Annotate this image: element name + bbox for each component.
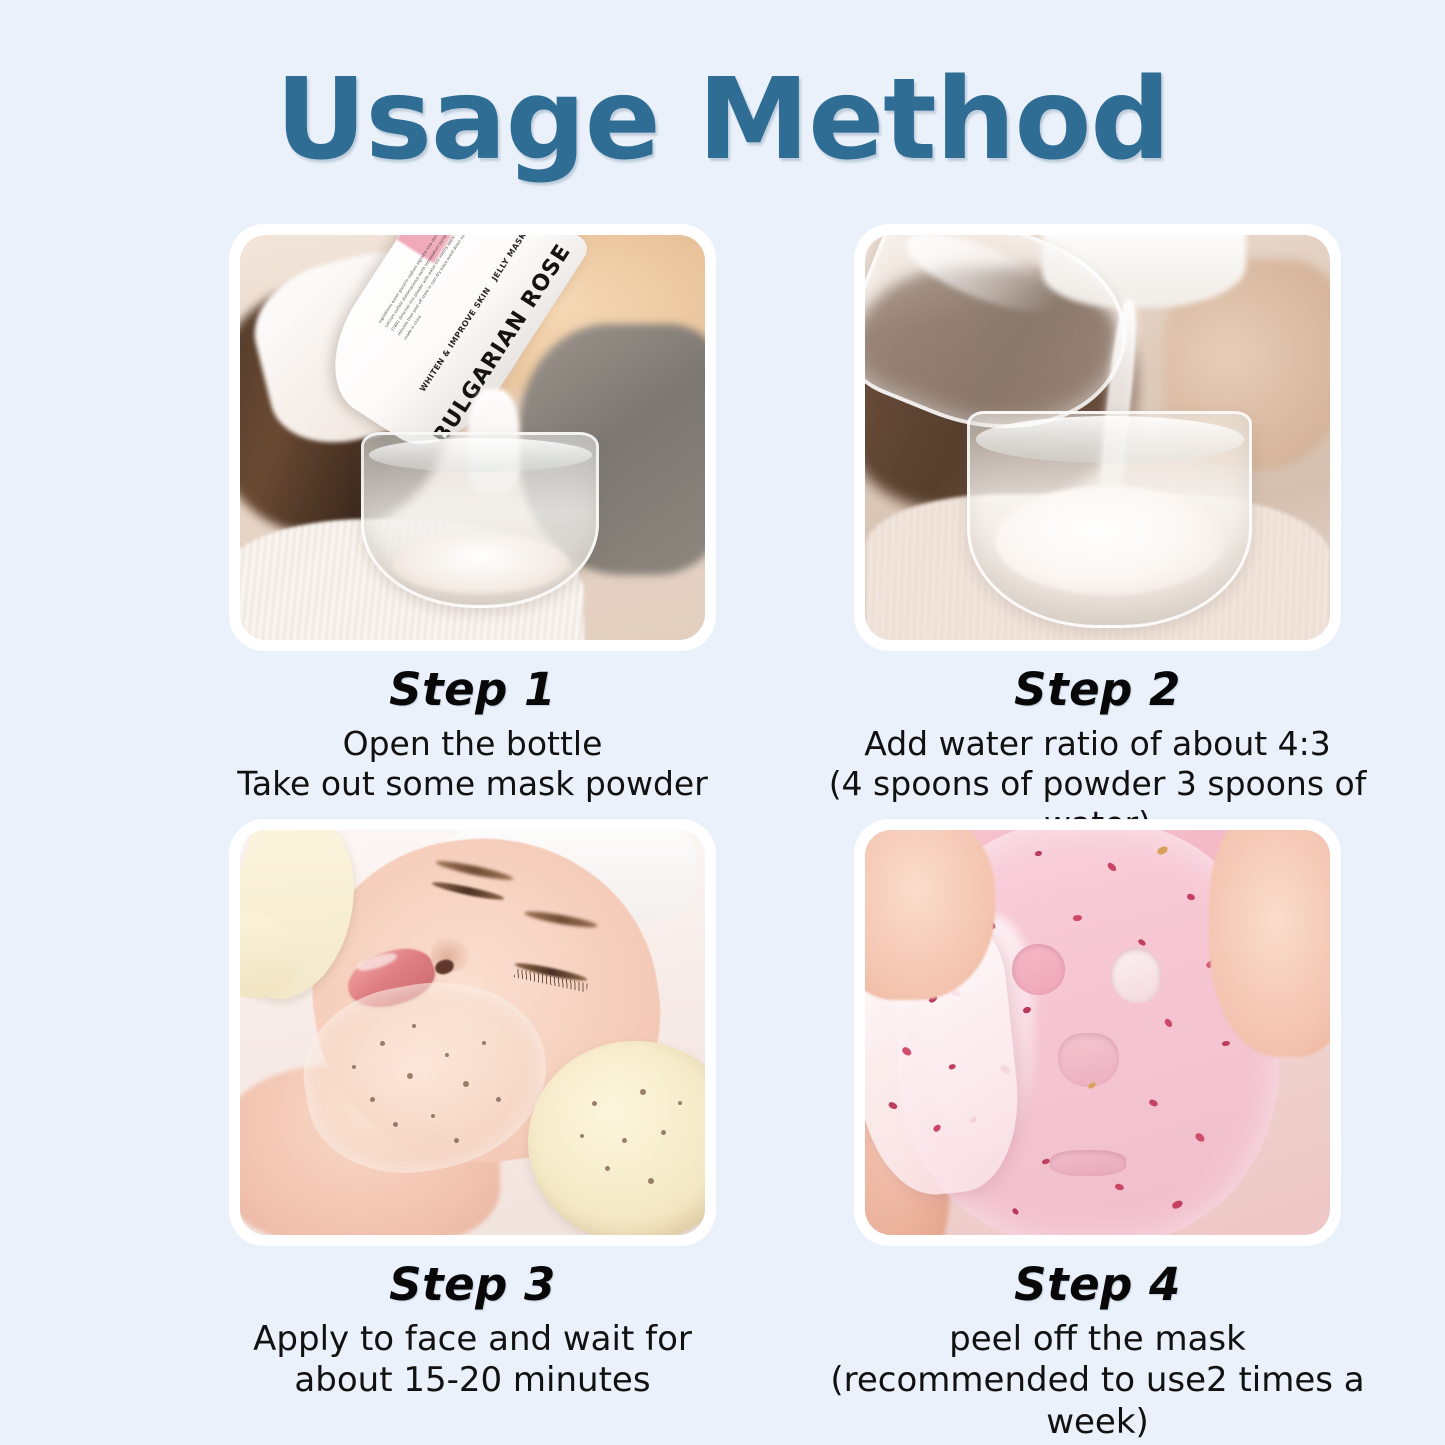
bowl-fleck <box>678 1101 682 1105</box>
step-card-4: Step 4 peel off the mask (recommended to… <box>785 820 1410 1443</box>
bowl-fleck <box>640 1089 646 1095</box>
step-card-3: Step 3 Apply to face and wait for about … <box>160 820 785 1402</box>
mask-fleck <box>454 1138 459 1143</box>
step-4-description: peel off the mask (recommended to use2 t… <box>785 1319 1410 1443</box>
bowl-fleck <box>580 1134 584 1138</box>
step-1-caption: Step 1 Open the bottle Take out some mas… <box>160 664 785 804</box>
rose-petal <box>947 1063 955 1070</box>
rose-petal <box>1072 914 1082 921</box>
step-4-caption: Step 4 peel off the mask (recommended to… <box>785 1259 1410 1443</box>
pouring-water-into-powder-bowl-image <box>865 235 1330 640</box>
mask-nose-opening <box>1058 1033 1119 1088</box>
step-3-description: Apply to face and wait for about 15-20 m… <box>160 1319 785 1402</box>
glass-bowl <box>967 411 1252 628</box>
step-3-label: Step 3 <box>160 1259 785 1311</box>
pouring-powder-from-bottle-into-bowl-image: ingredients water glycerin sodium algina… <box>240 235 705 640</box>
rose-petal <box>1114 1183 1124 1191</box>
applying-mask-to-face-with-spatula-image <box>240 830 705 1235</box>
bowl-fleck <box>661 1130 666 1135</box>
spatula-head <box>240 897 312 1011</box>
rose-petal <box>901 1045 913 1056</box>
rose-petal <box>1148 1098 1159 1107</box>
bowl-rim <box>976 416 1244 462</box>
step-card-2: Step 2 Add water ratio of about 4:3 (4 s… <box>785 225 1410 845</box>
mask-mouth-opening <box>1050 1150 1126 1175</box>
bowl-fleck <box>592 1101 597 1106</box>
step-1-description: Open the bottle Take out some mask powde… <box>160 724 785 805</box>
powder-in-bowl <box>392 533 569 594</box>
rose-petal <box>1137 938 1146 946</box>
rose-petal <box>1187 893 1196 901</box>
step-4-photo-frame <box>855 820 1340 1245</box>
step-2-caption: Step 2 Add water ratio of about 4:3 (4 s… <box>785 664 1410 845</box>
usage-method-infographic: Usage Method ingredients water glycerin … <box>0 0 1445 1445</box>
mask-fleck <box>445 1053 449 1057</box>
rose-petal <box>1011 1208 1020 1216</box>
mask-fleck <box>482 1041 486 1045</box>
mask-fleck <box>352 1065 356 1069</box>
step-1-label: Step 1 <box>160 664 785 716</box>
bowl-fleck <box>605 1166 610 1171</box>
rose-petal <box>1164 1017 1174 1028</box>
mask-fleck <box>380 1041 385 1046</box>
steps-grid: ingredients water glycerin sodium algina… <box>0 225 1445 1445</box>
mask-fleck <box>431 1114 435 1118</box>
rose-petal <box>1156 845 1169 857</box>
step-3-caption: Step 3 Apply to face and wait for about … <box>160 1259 785 1402</box>
step-1-photo-frame: ingredients water glycerin sodium algina… <box>230 225 715 650</box>
step-card-1: ingredients water glycerin sodium algina… <box>160 225 785 804</box>
rose-petal <box>1221 1040 1230 1047</box>
peeling-off-jelly-mask-image <box>865 830 1330 1235</box>
rose-petal <box>888 1101 899 1110</box>
page-title: Usage Method <box>0 62 1445 180</box>
powder-in-bowl <box>995 486 1224 596</box>
rose-petal <box>931 1123 941 1133</box>
step-4-label: Step 4 <box>785 1259 1410 1311</box>
rose-petal <box>1171 1199 1184 1210</box>
glass-bowl <box>361 432 600 608</box>
rose-petal <box>1034 850 1042 857</box>
mask-eye-opening-left <box>1012 944 1065 995</box>
pitcher-highlight <box>897 235 1066 326</box>
step-2-label: Step 2 <box>785 664 1410 716</box>
bowl-fleck <box>648 1178 654 1184</box>
rose-petal <box>1194 1131 1206 1143</box>
rose-petal <box>1106 862 1118 873</box>
step-2-photo-frame <box>855 225 1340 650</box>
bowl-fleck <box>622 1138 627 1143</box>
bowl-rim <box>369 438 592 472</box>
mask-eye-opening-right <box>1111 948 1161 1003</box>
step-3-photo-frame <box>230 820 715 1245</box>
